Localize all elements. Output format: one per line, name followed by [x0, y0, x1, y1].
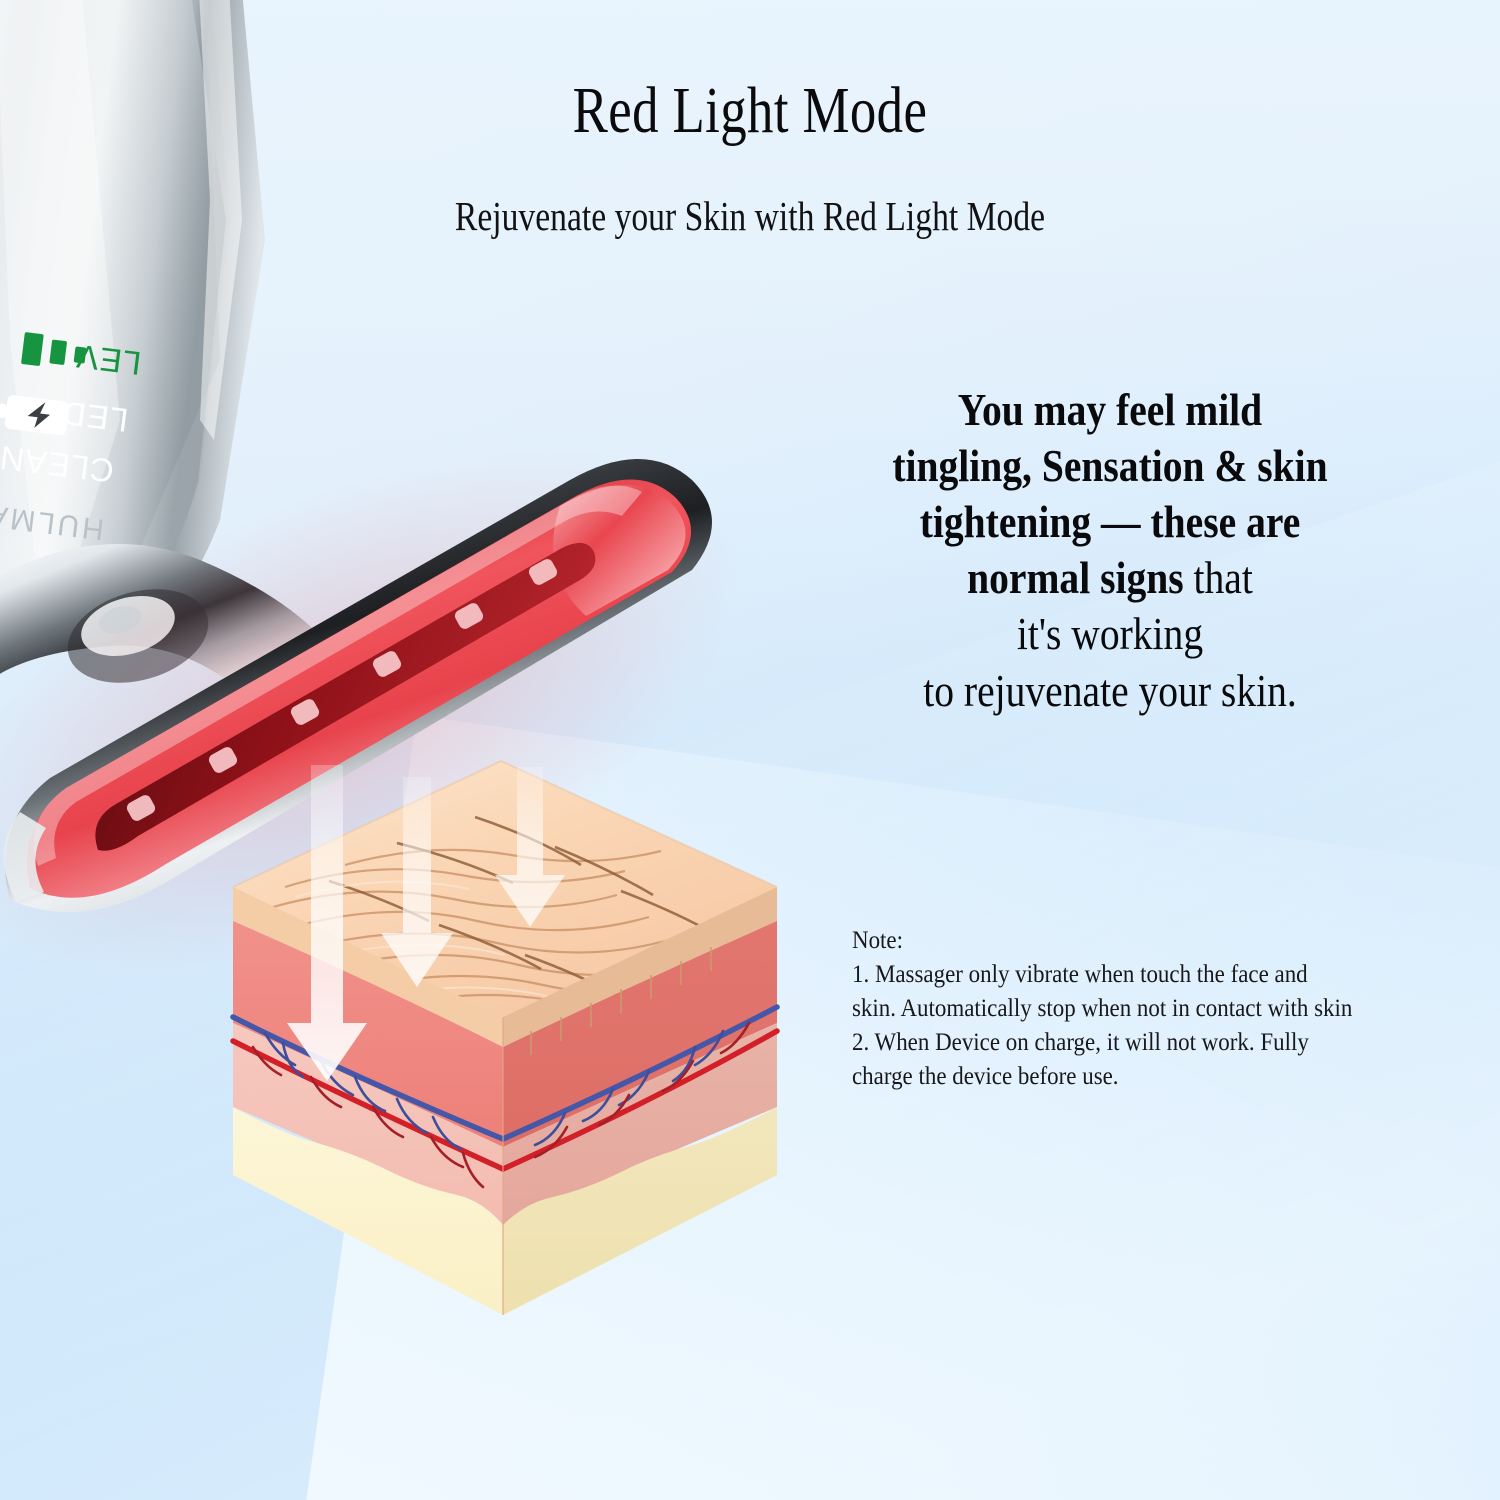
- note-item-2: 2. When Device on charge, it will not wo…: [852, 1025, 1356, 1093]
- headline-line-5: it's working: [809, 606, 1411, 662]
- headline-line-4: normal signs that: [809, 550, 1411, 606]
- product-marketing-image: CLEAN LED LEV HULMAY: [0, 0, 1500, 1500]
- skin-cross-section-diagram: [225, 755, 785, 1415]
- note-heading: Note:: [852, 923, 1356, 957]
- headline-block: You may feel mild tingling, Sensation & …: [809, 382, 1411, 719]
- note-block: Note: 1. Massager only vibrate when touc…: [852, 923, 1356, 1093]
- headline-line-2: tingling, Sensation & skin: [809, 438, 1411, 494]
- headline-line-6: to rejuvenate your skin.: [809, 663, 1411, 719]
- note-item-1: 1. Massager only vibrate when touch the …: [852, 957, 1356, 1025]
- headline-line-1: You may feel mild: [809, 382, 1411, 438]
- headline-line-3: tightening — these are: [809, 494, 1411, 550]
- page-title: Red Light Mode: [150, 78, 1350, 144]
- page-subtitle: Rejuvenate your Skin with Red Light Mode: [135, 196, 1365, 237]
